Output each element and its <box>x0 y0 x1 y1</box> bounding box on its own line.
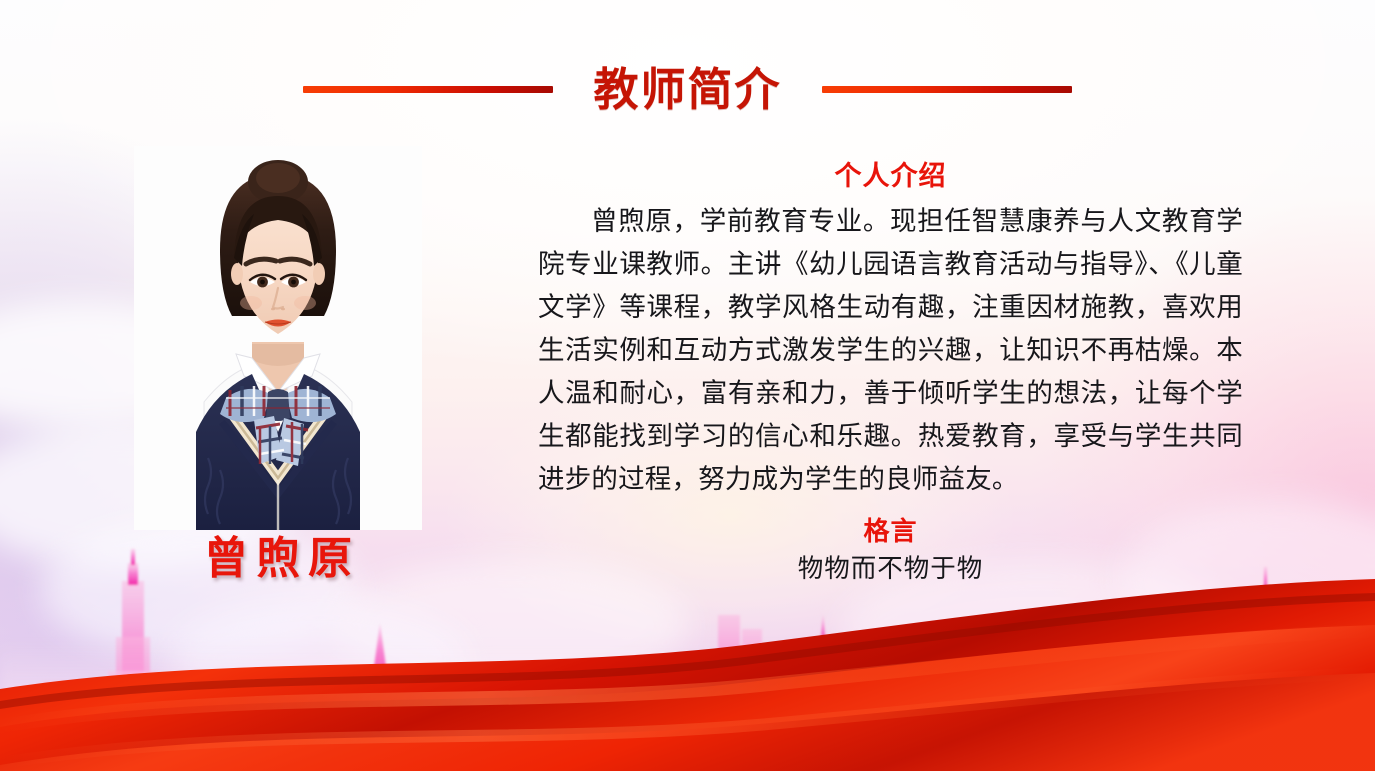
slide-canvas: 教师简介 <box>0 0 1375 771</box>
title-rule-right-icon <box>822 86 1072 93</box>
profile-content: 个人介绍 曾煦原，学前教育专业。现担任智慧康养与人文教育学院专业课教师。主讲《幼… <box>538 158 1243 588</box>
page-title: 教师简介 <box>593 67 781 112</box>
section-heading-intro: 个人介绍 <box>538 158 1243 194</box>
slide-title-row: 教师简介 <box>0 58 1375 120</box>
section-heading-motto: 格言 <box>538 511 1243 548</box>
portrait-photo-svg <box>134 146 422 530</box>
title-rule-left-icon <box>303 86 553 93</box>
motto-text: 物物而不物于物 <box>538 550 1243 588</box>
subject-name: 曾煦原 <box>134 534 422 585</box>
portrait-photo <box>134 146 422 530</box>
profile-body-text: 曾煦原，学前教育专业。现担任智慧康养与人文教育学院专业课教师。主讲《幼儿园语言教… <box>538 200 1243 500</box>
